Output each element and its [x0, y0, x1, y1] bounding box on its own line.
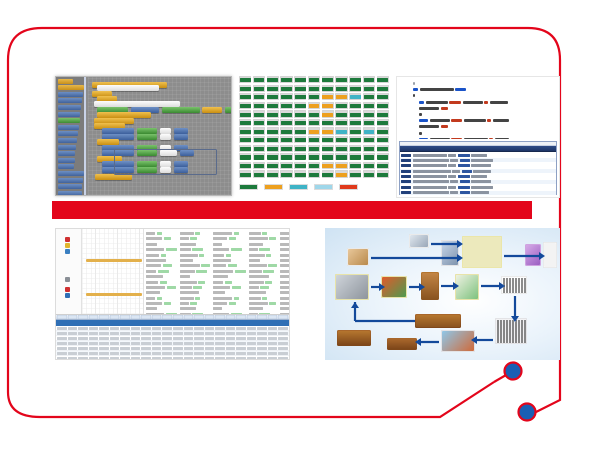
- legend-swatch-green: [239, 184, 258, 190]
- status-tile: [349, 145, 361, 152]
- status-tile: [363, 93, 375, 100]
- note-row: [249, 281, 278, 284]
- note-row: [213, 254, 246, 257]
- status-tile: [363, 119, 375, 126]
- palette-block: [58, 184, 82, 189]
- status-tile: [349, 153, 361, 160]
- status-tile: [280, 102, 292, 109]
- blocks-editor-screenshot: [55, 76, 232, 196]
- note-row: [180, 281, 211, 284]
- status-tile: [294, 76, 306, 83]
- status-tile: [239, 85, 251, 92]
- status-tile: [335, 119, 347, 126]
- note-row: [213, 259, 246, 262]
- status-tile: [280, 85, 292, 92]
- code-line: [413, 113, 555, 116]
- status-tile: [280, 162, 292, 169]
- code-token: [464, 119, 486, 122]
- note-row: [146, 243, 177, 246]
- status-tile: [308, 153, 320, 160]
- status-tile: [377, 127, 389, 134]
- status-tile: [308, 119, 320, 126]
- palette-block: [58, 151, 75, 156]
- code-token: [419, 132, 422, 135]
- note-row: [213, 237, 246, 240]
- code-token: [419, 138, 428, 139]
- status-tile: [294, 85, 306, 92]
- rail-marker: [65, 293, 70, 298]
- status-tile: [308, 127, 320, 134]
- status-tile: [294, 170, 306, 177]
- rail-marker: [65, 243, 70, 248]
- code-line: [413, 94, 555, 97]
- code-token: [455, 88, 466, 91]
- code-token: [484, 101, 488, 104]
- note-row: [213, 264, 246, 267]
- flow-arrow-layer: [325, 228, 560, 360]
- note-row: [213, 281, 246, 284]
- gantt-notes-columns: [144, 229, 289, 314]
- code-token: [419, 107, 439, 110]
- status-tile: [267, 119, 279, 126]
- status-tile: [253, 119, 265, 126]
- note-row: [280, 291, 289, 294]
- status-tile: [377, 85, 389, 92]
- note-row: [249, 237, 278, 240]
- note-row: [280, 259, 289, 262]
- note-row: [213, 297, 246, 300]
- status-tile: [294, 136, 306, 143]
- note-column: [146, 232, 177, 314]
- note-row: [280, 297, 289, 300]
- note-row: [280, 232, 289, 235]
- status-tile: [322, 119, 334, 126]
- note-row: [213, 313, 246, 314]
- status-tile: [335, 162, 347, 169]
- note-row: [146, 264, 177, 267]
- note-row: [249, 307, 278, 310]
- note-column: [213, 232, 246, 314]
- table-body: [56, 320, 289, 360]
- status-tile: [322, 136, 334, 143]
- status-tile: [377, 119, 389, 126]
- palette-block: [58, 112, 80, 117]
- note-row: [249, 232, 278, 235]
- palette-block: [58, 85, 84, 90]
- status-tile: [363, 162, 375, 169]
- status-tile: [267, 110, 279, 117]
- code-token: [487, 119, 491, 122]
- note-row: [146, 297, 177, 300]
- palette-block: [58, 105, 81, 110]
- code-token: [451, 138, 462, 139]
- note-row: [180, 270, 211, 273]
- console-log-row: [400, 185, 556, 189]
- note-row: [213, 291, 246, 294]
- status-tile: [280, 145, 292, 152]
- note-row: [249, 264, 278, 267]
- palette-block: [58, 158, 75, 163]
- console-log-row: [400, 153, 556, 157]
- note-row: [249, 297, 278, 300]
- gantt-bar: [86, 259, 142, 262]
- note-row: [280, 275, 289, 278]
- status-tile: [253, 162, 265, 169]
- code-block: [160, 134, 171, 140]
- status-tile: [349, 127, 361, 134]
- status-tile: [239, 119, 251, 126]
- status-tile: [349, 136, 361, 143]
- status-tile: [377, 110, 389, 117]
- rail-marker: [65, 237, 70, 242]
- status-tile: [267, 127, 279, 134]
- decorative-frame: [0, 0, 600, 450]
- status-tile: [335, 102, 347, 109]
- code-line: [413, 138, 555, 139]
- palette-block: [58, 98, 82, 103]
- console-log-row: [400, 175, 556, 179]
- note-row: [249, 243, 278, 246]
- code-token: [430, 138, 450, 139]
- frame-connector-upper: [494, 371, 513, 382]
- rail-marker: [65, 287, 70, 292]
- gantt-bar: [86, 293, 142, 296]
- note-row: [249, 259, 278, 262]
- note-row: [146, 313, 177, 314]
- note-row: [213, 286, 246, 289]
- note-row: [213, 270, 246, 273]
- console-log-rows: [400, 152, 556, 198]
- status-tile: [280, 153, 292, 160]
- status-tile: [363, 76, 375, 83]
- note-row: [249, 313, 278, 314]
- code-token: [463, 101, 483, 104]
- palette-block: [58, 171, 84, 176]
- note-row: [146, 254, 177, 257]
- status-tile: [308, 136, 320, 143]
- console-log-row: [400, 169, 556, 173]
- rail-marker: [65, 249, 70, 254]
- note-column: [249, 232, 278, 314]
- status-tile: [308, 85, 320, 92]
- note-row: [180, 243, 211, 246]
- status-tile: [377, 162, 389, 169]
- status-tile: [267, 93, 279, 100]
- note-row: [146, 302, 177, 305]
- note-row: [280, 281, 289, 284]
- note-row: [249, 291, 278, 294]
- status-tile: [349, 170, 361, 177]
- status-tile: [239, 110, 251, 117]
- status-tile: [294, 110, 306, 117]
- code-token: [426, 101, 448, 104]
- note-row: [280, 237, 289, 240]
- frame-dot-lower: [519, 404, 536, 421]
- status-tile: [239, 145, 251, 152]
- status-tile: [377, 76, 389, 83]
- gantt-table-screenshot: [55, 228, 290, 360]
- status-tile: [363, 170, 375, 177]
- status-tile: [294, 102, 306, 109]
- note-row: [280, 270, 289, 273]
- status-tile: [294, 93, 306, 100]
- note-row: [180, 275, 211, 278]
- code-editor-area: [397, 77, 559, 139]
- status-tile: [377, 136, 389, 143]
- code-line: [413, 119, 555, 122]
- note-row: [213, 243, 246, 246]
- note-row: [180, 286, 211, 289]
- code-line: [413, 125, 555, 128]
- note-row: [180, 307, 211, 310]
- code-token: [430, 119, 450, 122]
- code-block: [97, 85, 160, 91]
- status-tile: [349, 119, 361, 126]
- status-tile: [363, 127, 375, 134]
- note-row: [280, 243, 289, 246]
- frame-dot-upper: [505, 363, 522, 380]
- palette-block: [58, 138, 77, 143]
- note-row: [146, 291, 177, 294]
- note-row: [249, 275, 278, 278]
- status-tile: [294, 119, 306, 126]
- code-token: [490, 101, 508, 104]
- status-tile: [280, 127, 292, 134]
- status-tile: [239, 170, 251, 177]
- status-tile: [322, 170, 334, 177]
- palette-block: [58, 92, 83, 97]
- status-tile: [322, 127, 334, 134]
- status-tile: [349, 93, 361, 100]
- status-tile: [349, 162, 361, 169]
- blocks-canvas: [88, 77, 231, 195]
- status-tile: [253, 76, 265, 83]
- code-line: [413, 82, 555, 85]
- note-row: [213, 275, 246, 278]
- code-line: [413, 107, 555, 110]
- status-tile: [239, 162, 251, 169]
- palette-block: [58, 79, 73, 84]
- status-tile: [253, 127, 265, 134]
- note-row: [280, 286, 289, 289]
- code-line: [413, 101, 555, 104]
- note-row: [180, 259, 211, 262]
- status-tile: [280, 170, 292, 177]
- status-tile: [308, 76, 320, 83]
- palette-block: [58, 125, 79, 130]
- status-tile: [322, 145, 334, 152]
- status-tile: [363, 102, 375, 109]
- status-tile: [253, 170, 265, 177]
- code-block: [174, 134, 188, 140]
- code-token: [419, 113, 422, 116]
- status-tile: [322, 162, 334, 169]
- status-tile: [267, 85, 279, 92]
- code-token: [419, 125, 439, 128]
- status-tile: [267, 153, 279, 160]
- palette-block: [58, 178, 83, 183]
- status-tile: [253, 85, 265, 92]
- rail-marker: [65, 277, 70, 282]
- note-row: [180, 264, 211, 267]
- code-token: [449, 101, 461, 104]
- status-tile: [363, 85, 375, 92]
- blocks-palette: [56, 77, 86, 195]
- status-tile: [349, 76, 361, 83]
- code-block: [202, 107, 222, 113]
- legend-swatch-red: [339, 184, 358, 190]
- status-tile: [363, 110, 375, 117]
- status-tile: [267, 76, 279, 83]
- status-tile: [239, 127, 251, 134]
- log-console: [399, 141, 557, 195]
- status-tile: [322, 85, 334, 92]
- status-tile: [335, 93, 347, 100]
- status-tile: [349, 110, 361, 117]
- red-separator-bar: [52, 201, 532, 219]
- status-tile: [322, 93, 334, 100]
- note-row: [146, 307, 177, 310]
- status-tile: [239, 153, 251, 160]
- console-log-row: [400, 158, 556, 162]
- gantt-upper-area: [56, 229, 289, 315]
- code-console-screenshot: [396, 76, 560, 198]
- palette-block: [58, 164, 74, 169]
- status-tile: [267, 102, 279, 109]
- note-row: [146, 270, 177, 273]
- note-row: [249, 302, 278, 305]
- code-token: [464, 138, 488, 139]
- status-tile: [322, 153, 334, 160]
- tile-grid: [239, 76, 389, 178]
- code-token: [419, 101, 424, 104]
- note-row: [146, 259, 177, 262]
- status-tile: [308, 102, 320, 109]
- note-row: [249, 248, 278, 251]
- code-token: [493, 119, 509, 122]
- status-tile: [267, 162, 279, 169]
- legend-swatch-teal: [289, 184, 308, 190]
- status-tile: [253, 153, 265, 160]
- gantt-chart-grid: [82, 229, 144, 314]
- status-tile: [349, 85, 361, 92]
- console-log-row: [400, 191, 556, 195]
- code-token: [441, 125, 448, 128]
- status-tile: [253, 102, 265, 109]
- note-row: [213, 302, 246, 305]
- legend-swatch-lblue: [314, 184, 333, 190]
- status-tile: [267, 145, 279, 152]
- status-tile: [377, 145, 389, 152]
- status-tile: [377, 170, 389, 177]
- status-tile: [322, 110, 334, 117]
- code-token: [489, 138, 493, 139]
- status-tile: [294, 127, 306, 134]
- palette-block: [58, 145, 76, 150]
- palette-block: [58, 131, 78, 136]
- status-tile: [267, 136, 279, 143]
- note-row: [180, 313, 211, 314]
- note-row: [180, 302, 211, 305]
- frame-path-right-tail: [536, 372, 560, 412]
- note-row: [280, 254, 289, 257]
- note-row: [280, 264, 289, 267]
- code-token: [413, 82, 415, 85]
- status-tile: [335, 127, 347, 134]
- status-tile: [280, 119, 292, 126]
- console-log-row: [400, 180, 556, 184]
- note-row: [213, 248, 246, 251]
- code-block: [137, 134, 157, 140]
- status-tile: [335, 153, 347, 160]
- note-row: [180, 232, 211, 235]
- status-tile: [363, 136, 375, 143]
- code-token: [451, 119, 462, 122]
- status-tile: [308, 162, 320, 169]
- note-row: [180, 297, 211, 300]
- status-tile: [308, 110, 320, 117]
- note-row: [280, 313, 289, 314]
- code-line: [413, 132, 555, 135]
- code-block: [225, 107, 232, 113]
- status-tile: [308, 93, 320, 100]
- palette-block: [58, 191, 82, 196]
- code-token: [420, 88, 454, 91]
- legend-swatch-orange: [264, 184, 283, 190]
- note-row: [180, 291, 211, 294]
- tile-grid-screenshot: [239, 76, 389, 198]
- note-row: [180, 237, 211, 240]
- note-row: [280, 248, 289, 251]
- status-tile: [363, 153, 375, 160]
- status-tile: [280, 110, 292, 117]
- palette-block: [58, 118, 80, 123]
- status-tile: [308, 145, 320, 152]
- tile-grid-legend: [239, 184, 389, 190]
- status-tile: [335, 85, 347, 92]
- note-row: [146, 286, 177, 289]
- note-row: [146, 237, 177, 240]
- status-tile: [280, 93, 292, 100]
- status-tile: [280, 136, 292, 143]
- code-token: [441, 107, 448, 110]
- data-table: [56, 315, 289, 360]
- note-row: [280, 302, 289, 305]
- note-row: [180, 248, 211, 251]
- status-tile: [294, 153, 306, 160]
- status-tile: [239, 136, 251, 143]
- slide-canvas: [0, 0, 600, 450]
- note-column: [280, 232, 289, 314]
- note-row: [280, 307, 289, 310]
- logistics-flow-screenshot: [325, 228, 560, 360]
- note-row: [146, 281, 177, 284]
- status-tile: [280, 76, 292, 83]
- note-row: [213, 232, 246, 235]
- status-tile: [377, 102, 389, 109]
- note-row: [180, 254, 211, 257]
- note-row: [146, 232, 177, 235]
- status-tile: [267, 170, 279, 177]
- console-log-row: [400, 196, 556, 198]
- note-row: [146, 248, 177, 251]
- status-tile: [377, 93, 389, 100]
- status-tile: [322, 76, 334, 83]
- note-column: [180, 232, 211, 314]
- table-row: [56, 356, 289, 360]
- status-tile: [377, 153, 389, 160]
- status-tile: [239, 76, 251, 83]
